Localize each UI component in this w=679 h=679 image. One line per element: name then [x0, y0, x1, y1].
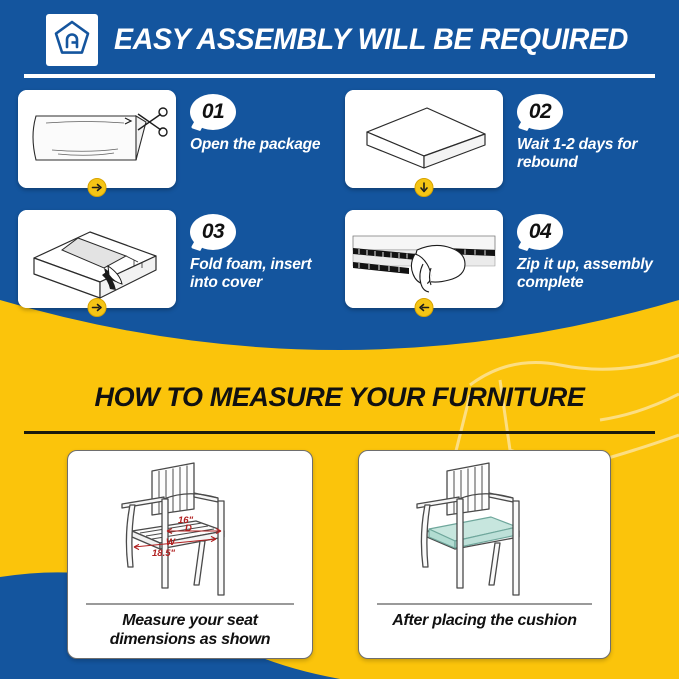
vacuum-sealed-package-with-scissors-icon: [18, 90, 176, 188]
svg-text:18.5": 18.5": [152, 548, 175, 559]
step-03-label: Fold foam, insert into cover: [190, 256, 336, 292]
measure-card-right-figure: [359, 451, 610, 603]
step-01-card: [18, 90, 176, 188]
step-04-card: [345, 210, 503, 308]
step-03-card: [18, 210, 176, 308]
step-01-number: 01: [190, 94, 236, 130]
step-03-number: 03: [190, 214, 236, 250]
measure-section-divider: [24, 431, 655, 434]
measure-card-left-caption: Measure your seat dimensions as shown: [68, 605, 312, 649]
house-pentagon-logo-icon: [52, 18, 92, 63]
assembly-step-01: 01 Open the package: [18, 90, 336, 188]
step-01-label: Open the package: [190, 136, 336, 154]
step-02-number: 02: [517, 94, 563, 130]
step-01-text: 01 Open the package: [190, 90, 336, 154]
infographic-page: EASY ASSEMBLY WILL BE REQUIRED: [0, 0, 679, 679]
measure-card-with-cushion: After placing the cushion: [358, 450, 611, 659]
step-04-label: Zip it up, assembly complete: [517, 256, 663, 292]
svg-text:D: D: [185, 523, 192, 534]
measure-section-title: HOW TO MEASURE YOUR FURNITURE: [0, 382, 679, 413]
arrow-down-icon: [415, 178, 434, 197]
brand-logo: [46, 14, 98, 66]
measure-card-left-figure: 16" D W 18.5": [68, 451, 312, 603]
arrow-right-icon: [88, 298, 107, 317]
assembly-step-04: 04 Zip it up, assembly complete: [345, 210, 663, 308]
step-02-card: [345, 90, 503, 188]
assembly-step-02: 02 Wait 1-2 days for rebound: [345, 90, 663, 188]
step-03-text: 03 Fold foam, insert into cover: [190, 210, 336, 292]
measure-card-right-caption: After placing the cushion: [359, 605, 610, 631]
header-divider: [24, 74, 655, 78]
step-04-number: 04: [517, 214, 563, 250]
measure-card-seat-dimensions: 16" D W 18.5" Measure your seat dimensio…: [67, 450, 313, 659]
svg-text:W: W: [166, 537, 176, 548]
arrow-right-icon: [88, 178, 107, 197]
assembly-step-03: 03 Fold foam, insert into cover: [18, 210, 336, 308]
foam-inserted-into-cover-icon: [18, 210, 176, 308]
chair-with-dimensions-icon: 16" D W 18.5": [90, 453, 290, 606]
page-title: EASY ASSEMBLY WILL BE REQUIRED: [114, 23, 628, 57]
step-02-label: Wait 1-2 days for rebound: [517, 136, 663, 172]
arrow-left-icon: [415, 298, 434, 317]
step-02-text: 02 Wait 1-2 days for rebound: [517, 90, 663, 172]
step-04-text: 04 Zip it up, assembly complete: [517, 210, 663, 292]
hand-zipping-zipper-icon: [345, 210, 503, 308]
chair-with-cushion-icon: [385, 453, 585, 606]
header: EASY ASSEMBLY WILL BE REQUIRED: [46, 11, 646, 69]
flat-foam-slab-icon: [345, 90, 503, 188]
